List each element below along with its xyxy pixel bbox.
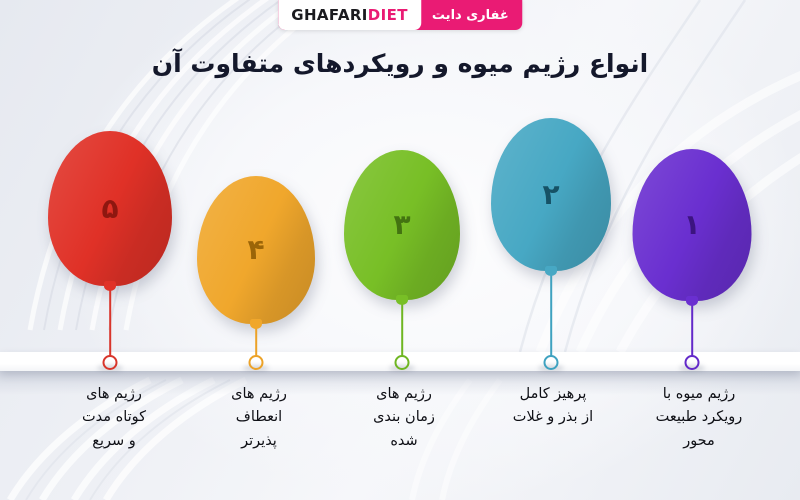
brand-name-latin-wrap: GHAFARIDIET [278, 0, 421, 30]
balloon-string [691, 301, 693, 356]
balloon-body[interactable]: ۱ [633, 149, 752, 301]
brand-name-latin-primary: GHAFARI [291, 6, 368, 24]
brand-logo-badge[interactable]: غفاری دایت GHAFARIDIET [278, 0, 522, 30]
brand-name-persian: غفاری دایت [421, 0, 522, 30]
caption-line: محور [624, 430, 774, 453]
balloon-number: ۱ [683, 211, 700, 239]
caption-line: رویکرد طبیعت [624, 406, 774, 429]
balloon-caption: رژیم میوه بارویکرد طبیعتمحور [624, 383, 774, 453]
brand-name-latin: GHAFARIDIET [291, 6, 408, 24]
caption-line: رژیم میوه با [624, 383, 774, 406]
page-title: انواع رژیم میوه و رویکردهای متفاوت آن [0, 49, 800, 78]
infographic-canvas: غفاری دایت GHAFARIDIET انواع رژیم میوه و… [0, 0, 800, 500]
brand-name-latin-accent: DIET [368, 6, 408, 24]
balloon-ring-marker[interactable] [685, 355, 700, 370]
balloon-knot [686, 296, 698, 306]
